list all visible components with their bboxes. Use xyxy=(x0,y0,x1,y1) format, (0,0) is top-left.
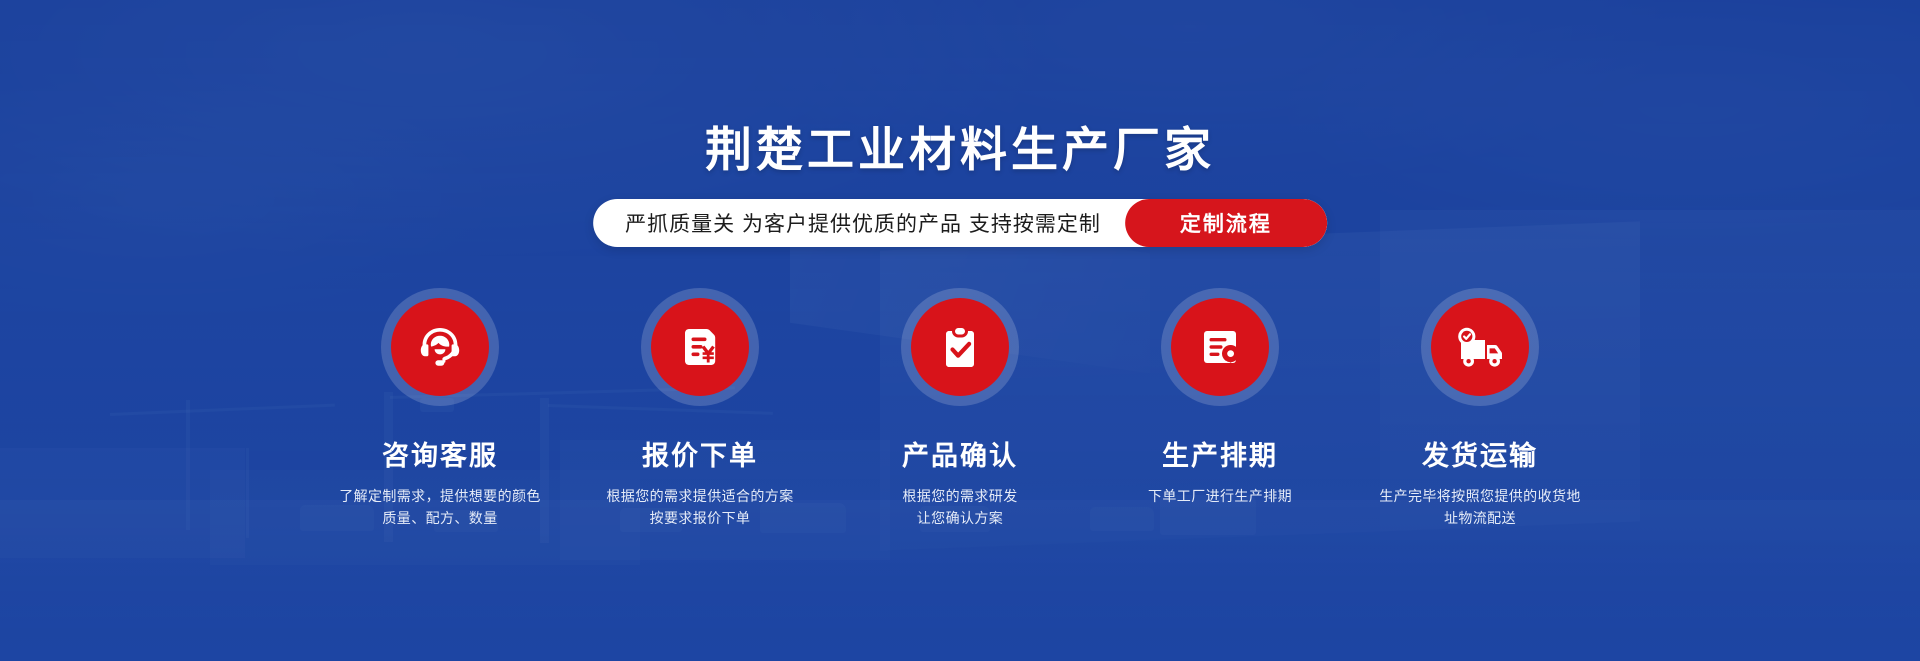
step-description-line: 根据您的需求研发 xyxy=(902,486,1017,508)
page-title: 荆楚工业材料生产厂家 xyxy=(0,121,1920,180)
step-description-line: 根据您的需求提供适合的方案 xyxy=(606,486,793,508)
step-icon-disc xyxy=(1171,298,1269,396)
step-item-delivery[interactable]: 发货运输 生产完毕将按照您提供的收货地 址物流配送 xyxy=(1350,288,1610,530)
step-title: 报价下单 xyxy=(642,440,758,472)
step-item-schedule[interactable]: 生产排期 下单工厂进行生产排期 xyxy=(1090,288,1350,508)
step-title: 生产排期 xyxy=(1162,440,1278,472)
process-steps: 咨询客服 了解定制需求，提供想要的颜色 质量、配方、数量 xyxy=(310,288,1610,530)
step-description: 生产完毕将按照您提供的收货地 址物流配送 xyxy=(1379,486,1581,529)
step-icon-disc xyxy=(1431,298,1529,396)
step-description: 根据您的需求提供适合的方案 按要求报价下单 xyxy=(606,486,793,529)
step-icon-disc xyxy=(911,298,1009,396)
step-description-line: 按要求报价下单 xyxy=(606,508,793,530)
step-item-quote[interactable]: 报价下单 根据您的需求提供适合的方案 按要求报价下单 xyxy=(570,288,830,530)
step-description-line: 让您确认方案 xyxy=(902,508,1017,530)
step-description-line: 址物流配送 xyxy=(1379,508,1581,530)
step-item-consult[interactable]: 咨询客服 了解定制需求，提供想要的颜色 质量、配方、数量 xyxy=(310,288,570,530)
step-description-line: 质量、配方、数量 xyxy=(339,508,541,530)
clipboard-check-icon xyxy=(932,319,988,375)
step-description: 根据您的需求研发 让您确认方案 xyxy=(902,486,1017,529)
step-icon-ring xyxy=(381,288,499,406)
claim-text: 严抓质量关 为客户提供优质的产品 支持按需定制 xyxy=(593,199,1125,247)
step-icon-ring xyxy=(1161,288,1279,406)
step-icon-ring xyxy=(641,288,759,406)
step-title: 产品确认 xyxy=(902,440,1018,472)
step-item-confirm[interactable]: 产品确认 根据您的需求研发 让您确认方案 xyxy=(830,288,1090,530)
step-icon-ring xyxy=(1421,288,1539,406)
headset-support-icon xyxy=(412,319,468,375)
step-description-line: 了解定制需求，提供想要的颜色 xyxy=(339,486,541,508)
step-description-line: 下单工厂进行生产排期 xyxy=(1148,486,1292,508)
step-icon-ring xyxy=(901,288,1019,406)
step-title: 发货运输 xyxy=(1422,440,1538,472)
promo-banner: 荆楚工业材料生产厂家 严抓质量关 为客户提供优质的产品 支持按需定制 定制流程 xyxy=(0,0,1920,661)
step-description: 下单工厂进行生产排期 xyxy=(1148,486,1292,508)
step-title: 咨询客服 xyxy=(382,440,498,472)
claim-bar: 严抓质量关 为客户提供优质的产品 支持按需定制 定制流程 xyxy=(593,199,1327,247)
banner-content: 荆楚工业材料生产厂家 严抓质量关 为客户提供优质的产品 支持按需定制 定制流程 xyxy=(0,0,1920,661)
quote-invoice-yuan-icon xyxy=(672,319,728,375)
document-gear-icon xyxy=(1192,319,1248,375)
step-icon-disc xyxy=(391,298,489,396)
step-description: 了解定制需求，提供想要的颜色 质量、配方、数量 xyxy=(339,486,541,529)
step-description-line: 生产完毕将按照您提供的收货地 xyxy=(1379,486,1581,508)
delivery-truck-check-icon xyxy=(1451,318,1509,376)
step-icon-disc xyxy=(651,298,749,396)
custom-process-button[interactable]: 定制流程 xyxy=(1125,199,1327,247)
